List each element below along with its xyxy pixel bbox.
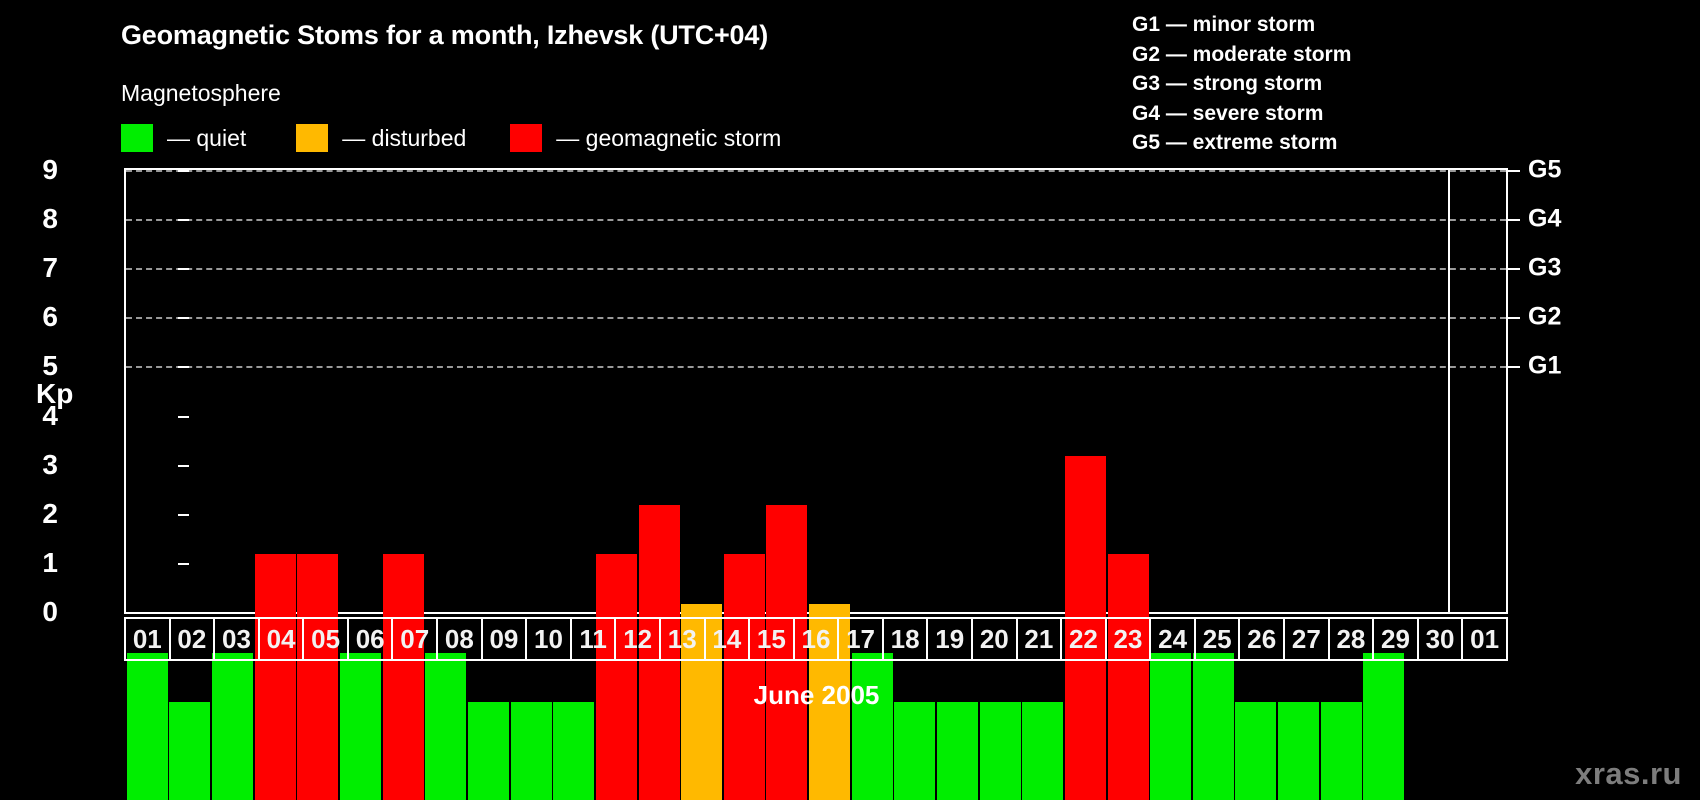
- bar-cell[interactable]: [1363, 358, 1406, 800]
- magnetosphere-label: Magnetosphere: [121, 80, 281, 107]
- month-boundary-separator: [1448, 170, 1450, 612]
- y-tick-label-9: 9: [42, 156, 58, 184]
- date-label[interactable]: 14: [706, 619, 751, 659]
- y-tick-label-3: 3: [42, 451, 58, 479]
- date-label[interactable]: 12: [616, 619, 661, 659]
- bar-cell[interactable]: [936, 358, 979, 800]
- gridline-kp-9: [126, 170, 1506, 172]
- bar[interactable]: [212, 653, 253, 800]
- date-label[interactable]: 03: [215, 619, 260, 659]
- g-tick-G1: [1508, 366, 1520, 368]
- g-tick-label-G4: G4: [1528, 205, 1561, 234]
- date-label[interactable]: 29: [1374, 619, 1419, 659]
- bar-cell[interactable]: [339, 358, 382, 800]
- x-axis-date-strip: 0102030405060708091011121314151617181920…: [124, 617, 1508, 661]
- g-scale-line-g3: G3 — strong storm: [1132, 69, 1552, 99]
- g-axis: G1G2G3G4G5: [1508, 168, 1688, 614]
- bar[interactable]: [468, 702, 509, 800]
- bar-cell[interactable]: [723, 358, 766, 800]
- bar-cell[interactable]: [169, 358, 212, 800]
- date-label[interactable]: 22: [1062, 619, 1107, 659]
- g-tick-label-G5: G5: [1528, 156, 1561, 185]
- bar-cell[interactable]: [467, 358, 510, 800]
- y-tick-7: [178, 268, 189, 270]
- date-label[interactable]: 01: [126, 619, 171, 659]
- date-label[interactable]: 23: [1107, 619, 1152, 659]
- bar-cell[interactable]: [126, 358, 169, 800]
- g-tick-G3: [1508, 268, 1520, 270]
- g-scale-line-g4: G4 — severe storm: [1132, 99, 1552, 129]
- bar-cell[interactable]: [638, 358, 681, 800]
- y-tick-label-2: 2: [42, 500, 58, 528]
- y-tick-label-7: 7: [42, 254, 58, 282]
- bar[interactable]: [553, 702, 594, 800]
- bar-cell[interactable]: [1149, 358, 1192, 800]
- bar[interactable]: [127, 653, 168, 800]
- bar-cell[interactable]: [254, 358, 297, 800]
- legend: — quiet — disturbed — geomagnetic storm: [121, 124, 781, 152]
- legend-label-storm: — geomagnetic storm: [556, 125, 781, 152]
- g-scale-legend: G1 — minor storm G2 — moderate storm G3 …: [1132, 10, 1552, 158]
- bar[interactable]: [1278, 702, 1319, 800]
- date-label[interactable]: 09: [483, 619, 528, 659]
- bar-series: [126, 358, 1448, 800]
- g-tick-G5: [1508, 170, 1520, 172]
- bar[interactable]: [852, 653, 893, 800]
- bar-cell[interactable]: [766, 358, 809, 800]
- date-label[interactable]: 10: [527, 619, 572, 659]
- date-label[interactable]: 13: [661, 619, 706, 659]
- watermark: xras.ru: [1575, 756, 1682, 792]
- date-label[interactable]: 30: [1419, 619, 1464, 659]
- bar[interactable]: [1363, 653, 1404, 800]
- bar-cell[interactable]: [297, 358, 340, 800]
- date-label[interactable]: 20: [973, 619, 1018, 659]
- legend-item-disturbed: — disturbed: [296, 124, 466, 152]
- bar[interactable]: [894, 702, 935, 800]
- y-tick-label-1: 1: [42, 549, 58, 577]
- bar-cell[interactable]: [510, 358, 553, 800]
- bar-cell[interactable]: [1235, 358, 1278, 800]
- date-label[interactable]: 17: [839, 619, 884, 659]
- date-label[interactable]: 06: [349, 619, 394, 659]
- legend-swatch-disturbed: [296, 124, 328, 152]
- chart-root: Geomagnetic Stoms for a month, Izhevsk (…: [0, 0, 1700, 800]
- bar-cell[interactable]: [1405, 358, 1448, 800]
- bar[interactable]: [1108, 554, 1149, 800]
- y-tick-label-5: 5: [42, 352, 58, 380]
- gridline-kp-8: [126, 219, 1506, 221]
- date-label[interactable]: 08: [438, 619, 483, 659]
- date-label[interactable]: 01: [1463, 619, 1506, 659]
- bar-cell[interactable]: [382, 358, 425, 800]
- date-label[interactable]: 04: [260, 619, 305, 659]
- date-label[interactable]: 05: [304, 619, 349, 659]
- date-label[interactable]: 18: [884, 619, 929, 659]
- bar[interactable]: [1193, 653, 1234, 800]
- bar[interactable]: [937, 702, 978, 800]
- date-label[interactable]: 02: [171, 619, 216, 659]
- legend-item-quiet: — quiet: [121, 124, 246, 152]
- g-tick-label-G2: G2: [1528, 303, 1561, 332]
- y-tick-9: [178, 170, 189, 172]
- date-label[interactable]: 15: [750, 619, 795, 659]
- g-scale-line-g5: G5 — extreme storm: [1132, 128, 1552, 158]
- date-label[interactable]: 21: [1018, 619, 1063, 659]
- g-tick-label-G1: G1: [1528, 352, 1561, 381]
- bar[interactable]: [340, 653, 381, 800]
- g-tick-G2: [1508, 317, 1520, 319]
- date-label[interactable]: 27: [1285, 619, 1330, 659]
- bar[interactable]: [1022, 702, 1063, 800]
- date-label[interactable]: 24: [1151, 619, 1196, 659]
- bar[interactable]: [1321, 702, 1362, 800]
- bar[interactable]: [169, 702, 210, 800]
- bar-cell[interactable]: [1107, 358, 1150, 800]
- legend-label-disturbed: — disturbed: [342, 125, 466, 152]
- bar[interactable]: [297, 554, 338, 800]
- date-label[interactable]: 26: [1240, 619, 1285, 659]
- bar[interactable]: [724, 554, 765, 800]
- bar[interactable]: [511, 702, 552, 800]
- legend-item-storm: — geomagnetic storm: [510, 124, 781, 152]
- bar-cell[interactable]: [552, 358, 595, 800]
- bar-cell[interactable]: [894, 358, 937, 800]
- y-tick-label-8: 8: [42, 205, 58, 233]
- bar[interactable]: [596, 554, 637, 800]
- bar-cell[interactable]: [979, 358, 1022, 800]
- g-scale-line-g2: G2 — moderate storm: [1132, 40, 1552, 70]
- bar-cell[interactable]: [424, 358, 467, 800]
- date-label[interactable]: 19: [928, 619, 973, 659]
- bar-cell[interactable]: [1021, 358, 1064, 800]
- bar-cell[interactable]: [1320, 358, 1363, 800]
- date-label[interactable]: 25: [1196, 619, 1241, 659]
- date-label[interactable]: 28: [1330, 619, 1375, 659]
- y-tick-8: [178, 219, 189, 221]
- date-label[interactable]: 16: [795, 619, 840, 659]
- x-axis-label: June 2005: [0, 680, 1633, 711]
- legend-label-quiet: — quiet: [167, 125, 246, 152]
- bar-cell[interactable]: [1064, 358, 1107, 800]
- bar[interactable]: [255, 554, 296, 800]
- y-tick-label-6: 6: [42, 303, 58, 331]
- page-title: Geomagnetic Stoms for a month, Izhevsk (…: [121, 20, 768, 51]
- bar-cell[interactable]: [1277, 358, 1320, 800]
- g-scale-line-g1: G1 — minor storm: [1132, 10, 1552, 40]
- bar[interactable]: [425, 653, 466, 800]
- bar-cell[interactable]: [211, 358, 254, 800]
- bar-cell[interactable]: [680, 358, 723, 800]
- bar-cell[interactable]: [851, 358, 894, 800]
- bar[interactable]: [1235, 702, 1276, 800]
- date-label[interactable]: 11: [572, 619, 617, 659]
- legend-swatch-quiet: [121, 124, 153, 152]
- bar[interactable]: [980, 702, 1021, 800]
- g-tick-label-G3: G3: [1528, 254, 1561, 283]
- y-tick-6: [178, 317, 189, 319]
- gridline-kp-6: [126, 317, 1506, 319]
- g-tick-G4: [1508, 219, 1520, 221]
- bar-cell[interactable]: [1192, 358, 1235, 800]
- bar-cell[interactable]: [595, 358, 638, 800]
- y-axis-label: Kp: [36, 378, 73, 410]
- bar-cell[interactable]: [808, 358, 851, 800]
- legend-swatch-storm: [510, 124, 542, 152]
- bar[interactable]: [383, 554, 424, 800]
- date-label[interactable]: 07: [393, 619, 438, 659]
- gridline-kp-7: [126, 268, 1506, 270]
- bar[interactable]: [1150, 653, 1191, 800]
- y-tick-label-0: 0: [42, 598, 58, 626]
